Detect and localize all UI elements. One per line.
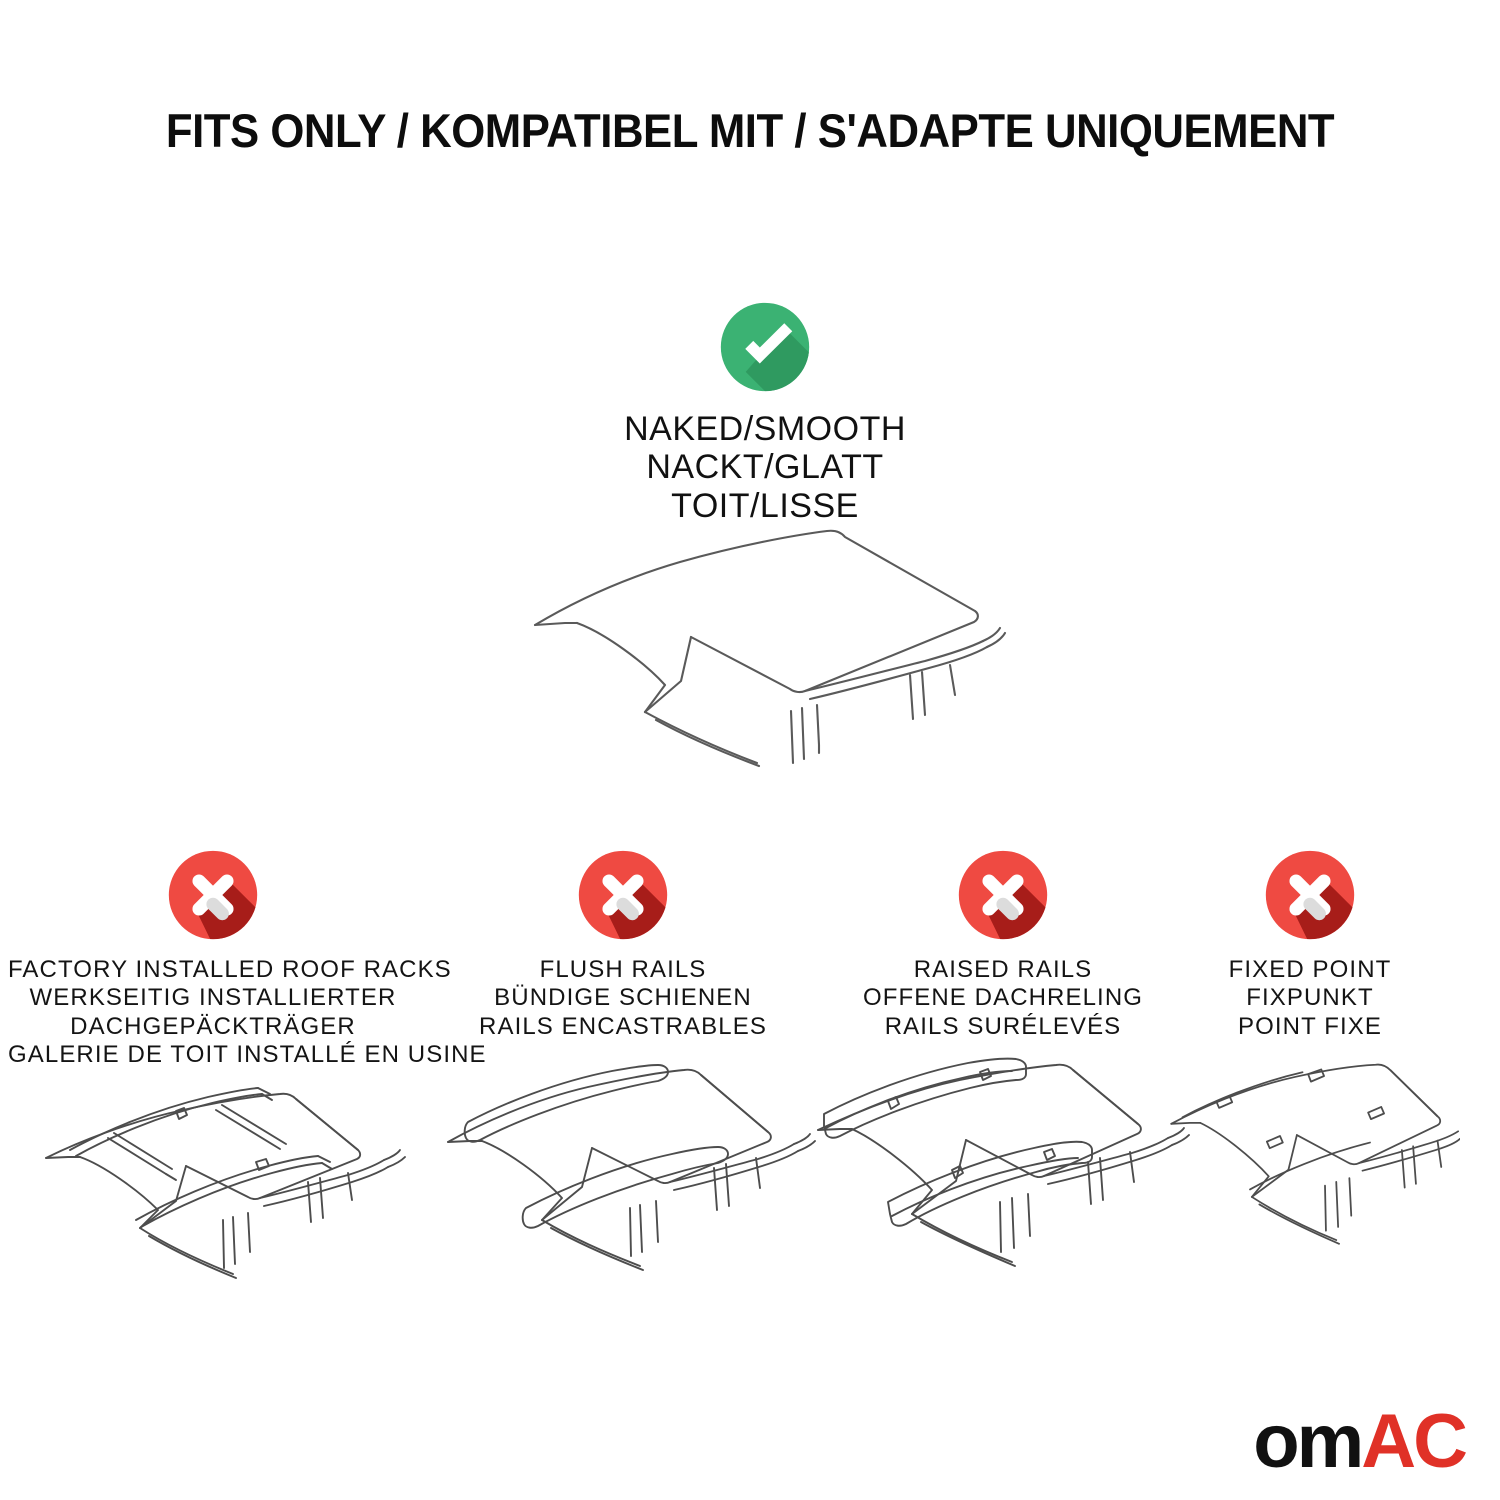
- incompatible-label-en: RAISED RAILS: [800, 956, 1206, 984]
- incompatible-label-fr: RAILS SURÉLEVÉS: [800, 1013, 1206, 1041]
- logo-text-ac: AC: [1361, 1399, 1465, 1484]
- cross-circle-icon: [956, 848, 1050, 942]
- incompatible-labels: FLUSH RAILS BÜNDIGE SCHIENEN RAILS ENCAS…: [420, 956, 826, 1041]
- car-roof-fixed-point-illustration: [1160, 1056, 1460, 1306]
- incompatible-labels: FACTORY INSTALLED ROOF RACKS WERKSEITIG …: [8, 956, 418, 1069]
- incompatible-label-fr: GALERIE DE TOIT INSTALLÉ EN USINE: [8, 1041, 418, 1069]
- omac-logo: omAC: [1253, 1404, 1465, 1480]
- incompatible-label-de: FIXPUNKT: [1160, 984, 1460, 1012]
- incompatible-label-en: FIXED POINT: [1160, 956, 1460, 984]
- car-roof-flush-rails-illustration: [420, 1056, 826, 1306]
- incompatible-label-de-2: DACHGEPÄCKTRÄGER: [8, 1013, 418, 1041]
- compatible-section: NAKED/SMOOTH NACKT/GLATT TOIT/LISSE: [515, 300, 1015, 525]
- cross-circle-icon: [1263, 848, 1357, 942]
- compatible-label-en: NAKED/SMOOTH: [515, 410, 1015, 448]
- check-circle-icon: [718, 300, 812, 394]
- incompatible-label-de: OFFENE DACHRELING: [800, 984, 1206, 1012]
- car-roof-raised-rails-illustration: [800, 1056, 1206, 1306]
- incompatible-label-en: FLUSH RAILS: [420, 956, 826, 984]
- cross-circle-icon: [166, 848, 260, 942]
- incompatible-item-flush-rails: FLUSH RAILS BÜNDIGE SCHIENEN RAILS ENCAS…: [420, 848, 826, 1041]
- car-roof-factory-installed-racks-illustration: [8, 1070, 418, 1320]
- incompatible-item-raised-rails: RAISED RAILS OFFENE DACHRELING RAILS SUR…: [800, 848, 1206, 1041]
- incompatible-item-fixed-point: FIXED POINT FIXPUNKT POINT FIXE: [1160, 848, 1460, 1041]
- incompatible-section: FACTORY INSTALLED ROOF RACKS WERKSEITIG …: [0, 848, 1500, 1488]
- incompatible-labels: RAISED RAILS OFFENE DACHRELING RAILS SUR…: [800, 956, 1206, 1041]
- incompatible-label-en: FACTORY INSTALLED ROOF RACKS: [8, 956, 418, 984]
- incompatible-label-fr: RAILS ENCASTRABLES: [420, 1013, 826, 1041]
- compatible-labels: NAKED/SMOOTH NACKT/GLATT TOIT/LISSE: [515, 410, 1015, 525]
- incompatible-item-factory-racks: FACTORY INSTALLED ROOF RACKS WERKSEITIG …: [8, 848, 418, 1069]
- cross-circle-icon: [576, 848, 670, 942]
- incompatible-label-de-1: WERKSEITIG INSTALLIERTER: [8, 984, 418, 1012]
- incompatible-label-fr: POINT FIXE: [1160, 1013, 1460, 1041]
- incompatible-labels: FIXED POINT FIXPUNKT POINT FIXE: [1160, 956, 1460, 1041]
- car-roof-naked-smooth-illustration: [505, 515, 1025, 805]
- compatible-label-de: NACKT/GLATT: [515, 448, 1015, 486]
- page-title: FITS ONLY / KOMPATIBEL MIT / S'ADAPTE UN…: [53, 103, 1448, 158]
- logo-text-om: om: [1253, 1399, 1361, 1484]
- incompatible-label-de: BÜNDIGE SCHIENEN: [420, 984, 826, 1012]
